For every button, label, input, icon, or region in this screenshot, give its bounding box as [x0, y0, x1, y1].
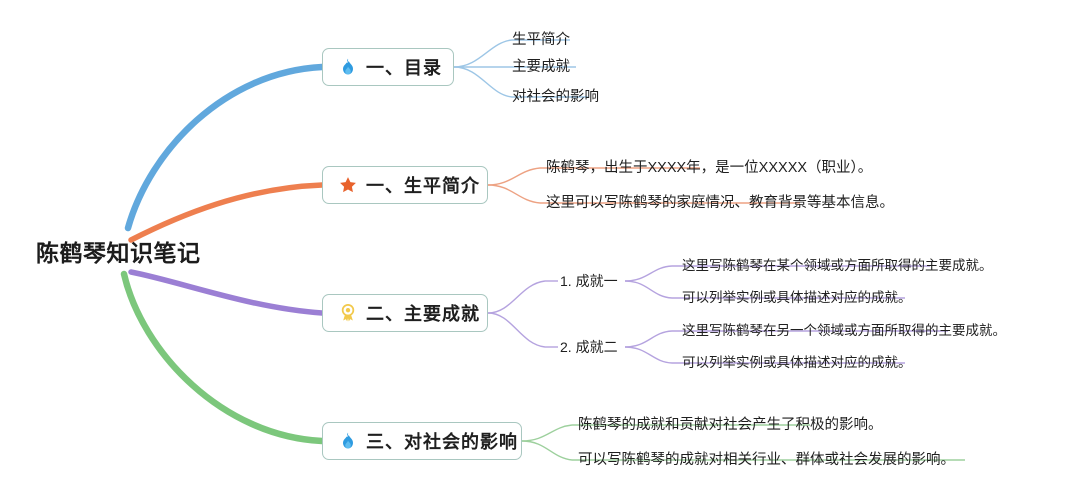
branch-node-social-impact[interactable]: 三、对社会的影响: [322, 422, 522, 460]
branch-node-label: 二、主要成就: [366, 300, 480, 326]
star-icon: [337, 175, 358, 196]
root-node-title[interactable]: 陈鹤琴知识笔记: [36, 234, 201, 268]
branch-node-biography[interactable]: 一、生平简介: [322, 166, 488, 204]
flame-icon: [337, 57, 358, 78]
branch-node-achievements[interactable]: 二、主要成就: [322, 294, 488, 332]
leaf-achievement-1-0[interactable]: 这里写陈鹤琴在某个领域或方面所取得的主要成就。: [682, 259, 993, 273]
mindmap-canvas: 陈鹤琴知识笔记 一、目录 生平简介 主要成就 对社会的影响 一、生平简介 陈鹤琴…: [0, 0, 1085, 500]
leaf-social-impact-0[interactable]: 陈鹤琴的成就和贡献对社会产生了积极的影响。: [578, 418, 883, 433]
leaf-biography-0[interactable]: 陈鹤琴，出生于XXXX年，是一位XXXXX（职业）。: [546, 161, 872, 176]
leaf-catalog-2[interactable]: 对社会的影响: [512, 90, 599, 105]
flame-icon: [337, 431, 358, 452]
branch-node-catalog[interactable]: 一、目录: [322, 48, 454, 86]
leaf-social-impact-1[interactable]: 可以写陈鹤琴的成就对相关行业、群体或社会发展的影响。: [578, 453, 955, 468]
leaf-catalog-0[interactable]: 生平简介: [512, 33, 570, 48]
sub-node-achievement-2[interactable]: 2. 成就二: [560, 340, 618, 354]
leaf-achievement-1-1[interactable]: 可以列举实例或具体描述对应的成就。: [682, 291, 912, 305]
branch-node-label: 三、对社会的影响: [366, 428, 518, 454]
branch-node-label: 一、生平简介: [366, 172, 480, 198]
leaf-achievement-2-0[interactable]: 这里写陈鹤琴在另一个领域或方面所取得的主要成就。: [682, 324, 1006, 338]
medal-icon: [337, 303, 358, 324]
branch-node-label: 一、目录: [366, 54, 442, 80]
leaf-catalog-1[interactable]: 主要成就: [512, 60, 570, 75]
leaf-achievement-2-1[interactable]: 可以列举实例或具体描述对应的成就。: [682, 356, 912, 370]
sub-node-achievement-1[interactable]: 1. 成就一: [560, 274, 618, 288]
leaf-biography-1[interactable]: 这里可以写陈鹤琴的家庭情况、教育背景等基本信息。: [546, 196, 894, 211]
nodes-layer: 陈鹤琴知识笔记 一、目录 生平简介 主要成就 对社会的影响 一、生平简介 陈鹤琴…: [0, 0, 1085, 500]
